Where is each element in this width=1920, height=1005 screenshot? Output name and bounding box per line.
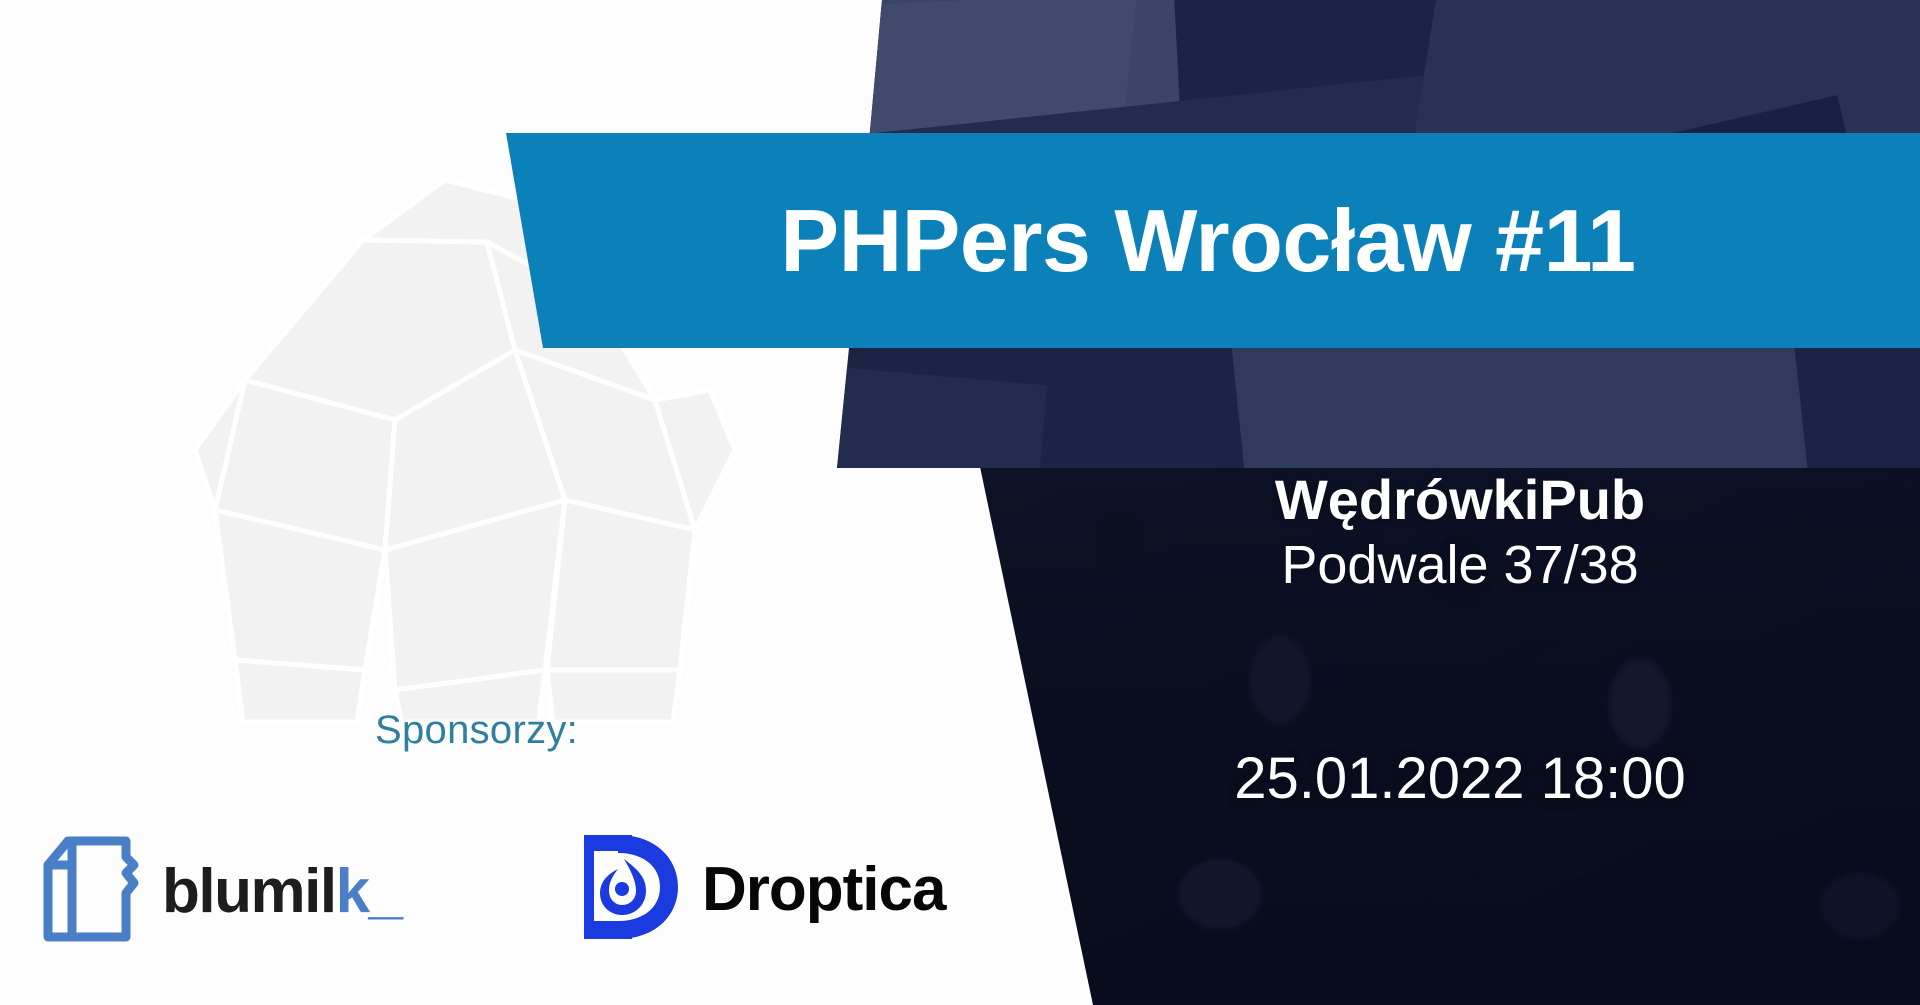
- sponsor-logos: blumilk_ Droptica: [0, 815, 900, 965]
- blumilk-text-accent: k: [336, 857, 369, 926]
- blumilk-text-underscore: _: [369, 857, 402, 926]
- venue-name: WędrówkiPub: [1060, 470, 1860, 530]
- sponsor-blumilk-label: blumilk_: [162, 861, 402, 923]
- milk-carton-icon: [38, 833, 142, 950]
- sponsor-droptica[interactable]: Droptica: [570, 829, 945, 950]
- event-poster: PHPers Wrocław #11 WędrówkiPub Podwale 3…: [0, 0, 1920, 1005]
- sponsor-blumilk[interactable]: blumilk_: [38, 833, 402, 950]
- geo-polygon: [1231, 348, 1810, 468]
- venue-address: Podwale 37/38: [1060, 534, 1860, 597]
- sponsors-label: Sponsorzy:: [375, 708, 578, 753]
- page-title: PHPers Wrocław #11: [750, 197, 1675, 285]
- sponsor-droptica-label: Droptica: [702, 859, 945, 921]
- event-datetime: 25.01.2022 18:00: [1060, 745, 1860, 812]
- title-banner: PHPers Wrocław #11: [506, 133, 1920, 348]
- venue-info: WędrówkiPub Podwale 37/38: [1060, 470, 1860, 597]
- droptica-drop-icon: [570, 829, 680, 950]
- blumilk-text-main: blumil: [162, 857, 336, 926]
